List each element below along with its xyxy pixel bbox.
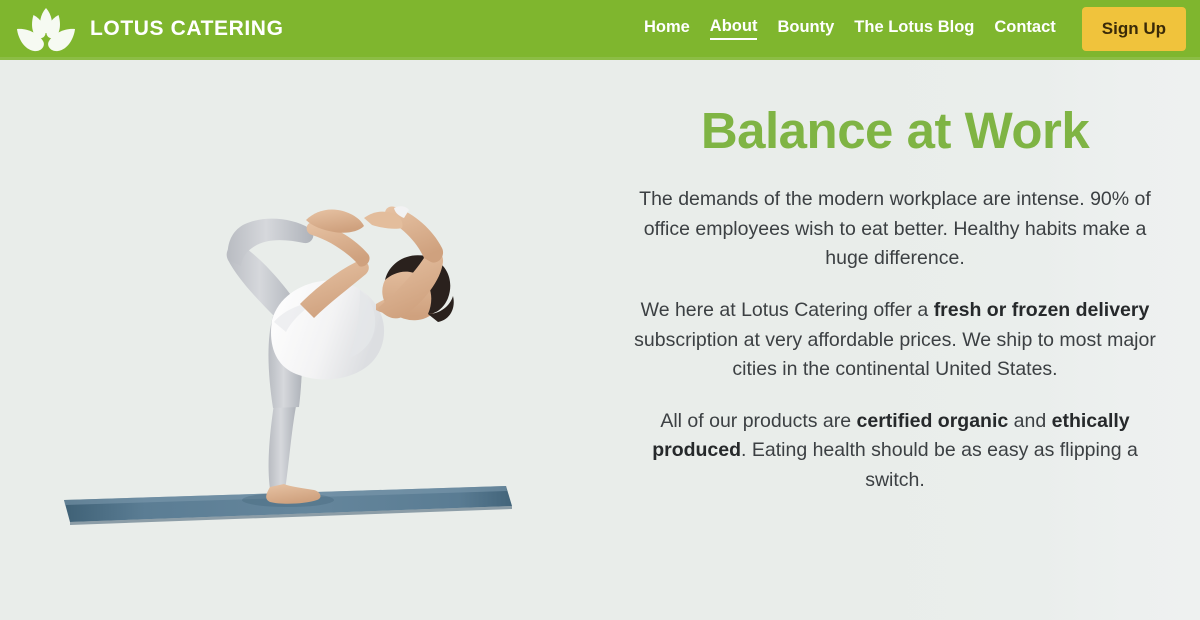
hero-text-column: Balance at Work The demands of the moder…: [600, 63, 1200, 620]
sign-up-button[interactable]: Sign Up: [1082, 7, 1186, 51]
hero-paragraph-2: We here at Lotus Catering offer a fresh …: [630, 296, 1160, 385]
nav-item-the-lotus-blog[interactable]: The Lotus Blog: [854, 18, 974, 39]
hero-paragraph-3: All of our products are certified organi…: [630, 407, 1160, 496]
brand-name: LOTUS CATERING: [90, 17, 284, 41]
nav-item-about[interactable]: About: [710, 17, 758, 40]
hero-paragraph-1: The demands of the modern workplace are …: [630, 185, 1160, 274]
page-root: LOTUS CATERING Home About Bounty The Lot…: [0, 0, 1200, 620]
yoga-pose-image: [60, 108, 560, 568]
nav-item-home[interactable]: Home: [644, 18, 690, 39]
site-header: LOTUS CATERING Home About Bounty The Lot…: [0, 0, 1200, 60]
main-nav: Home About Bounty The Lotus Blog Contact…: [644, 7, 1200, 51]
hero-section: Balance at Work The demands of the moder…: [0, 63, 1200, 620]
nav-item-bounty[interactable]: Bounty: [777, 18, 834, 39]
nav-item-contact[interactable]: Contact: [994, 18, 1055, 39]
hero-title: Balance at Work: [630, 103, 1160, 159]
brand-logo[interactable]: LOTUS CATERING: [12, 3, 284, 55]
hero-image-column: [0, 63, 600, 620]
lotus-flower-icon: [12, 3, 80, 55]
